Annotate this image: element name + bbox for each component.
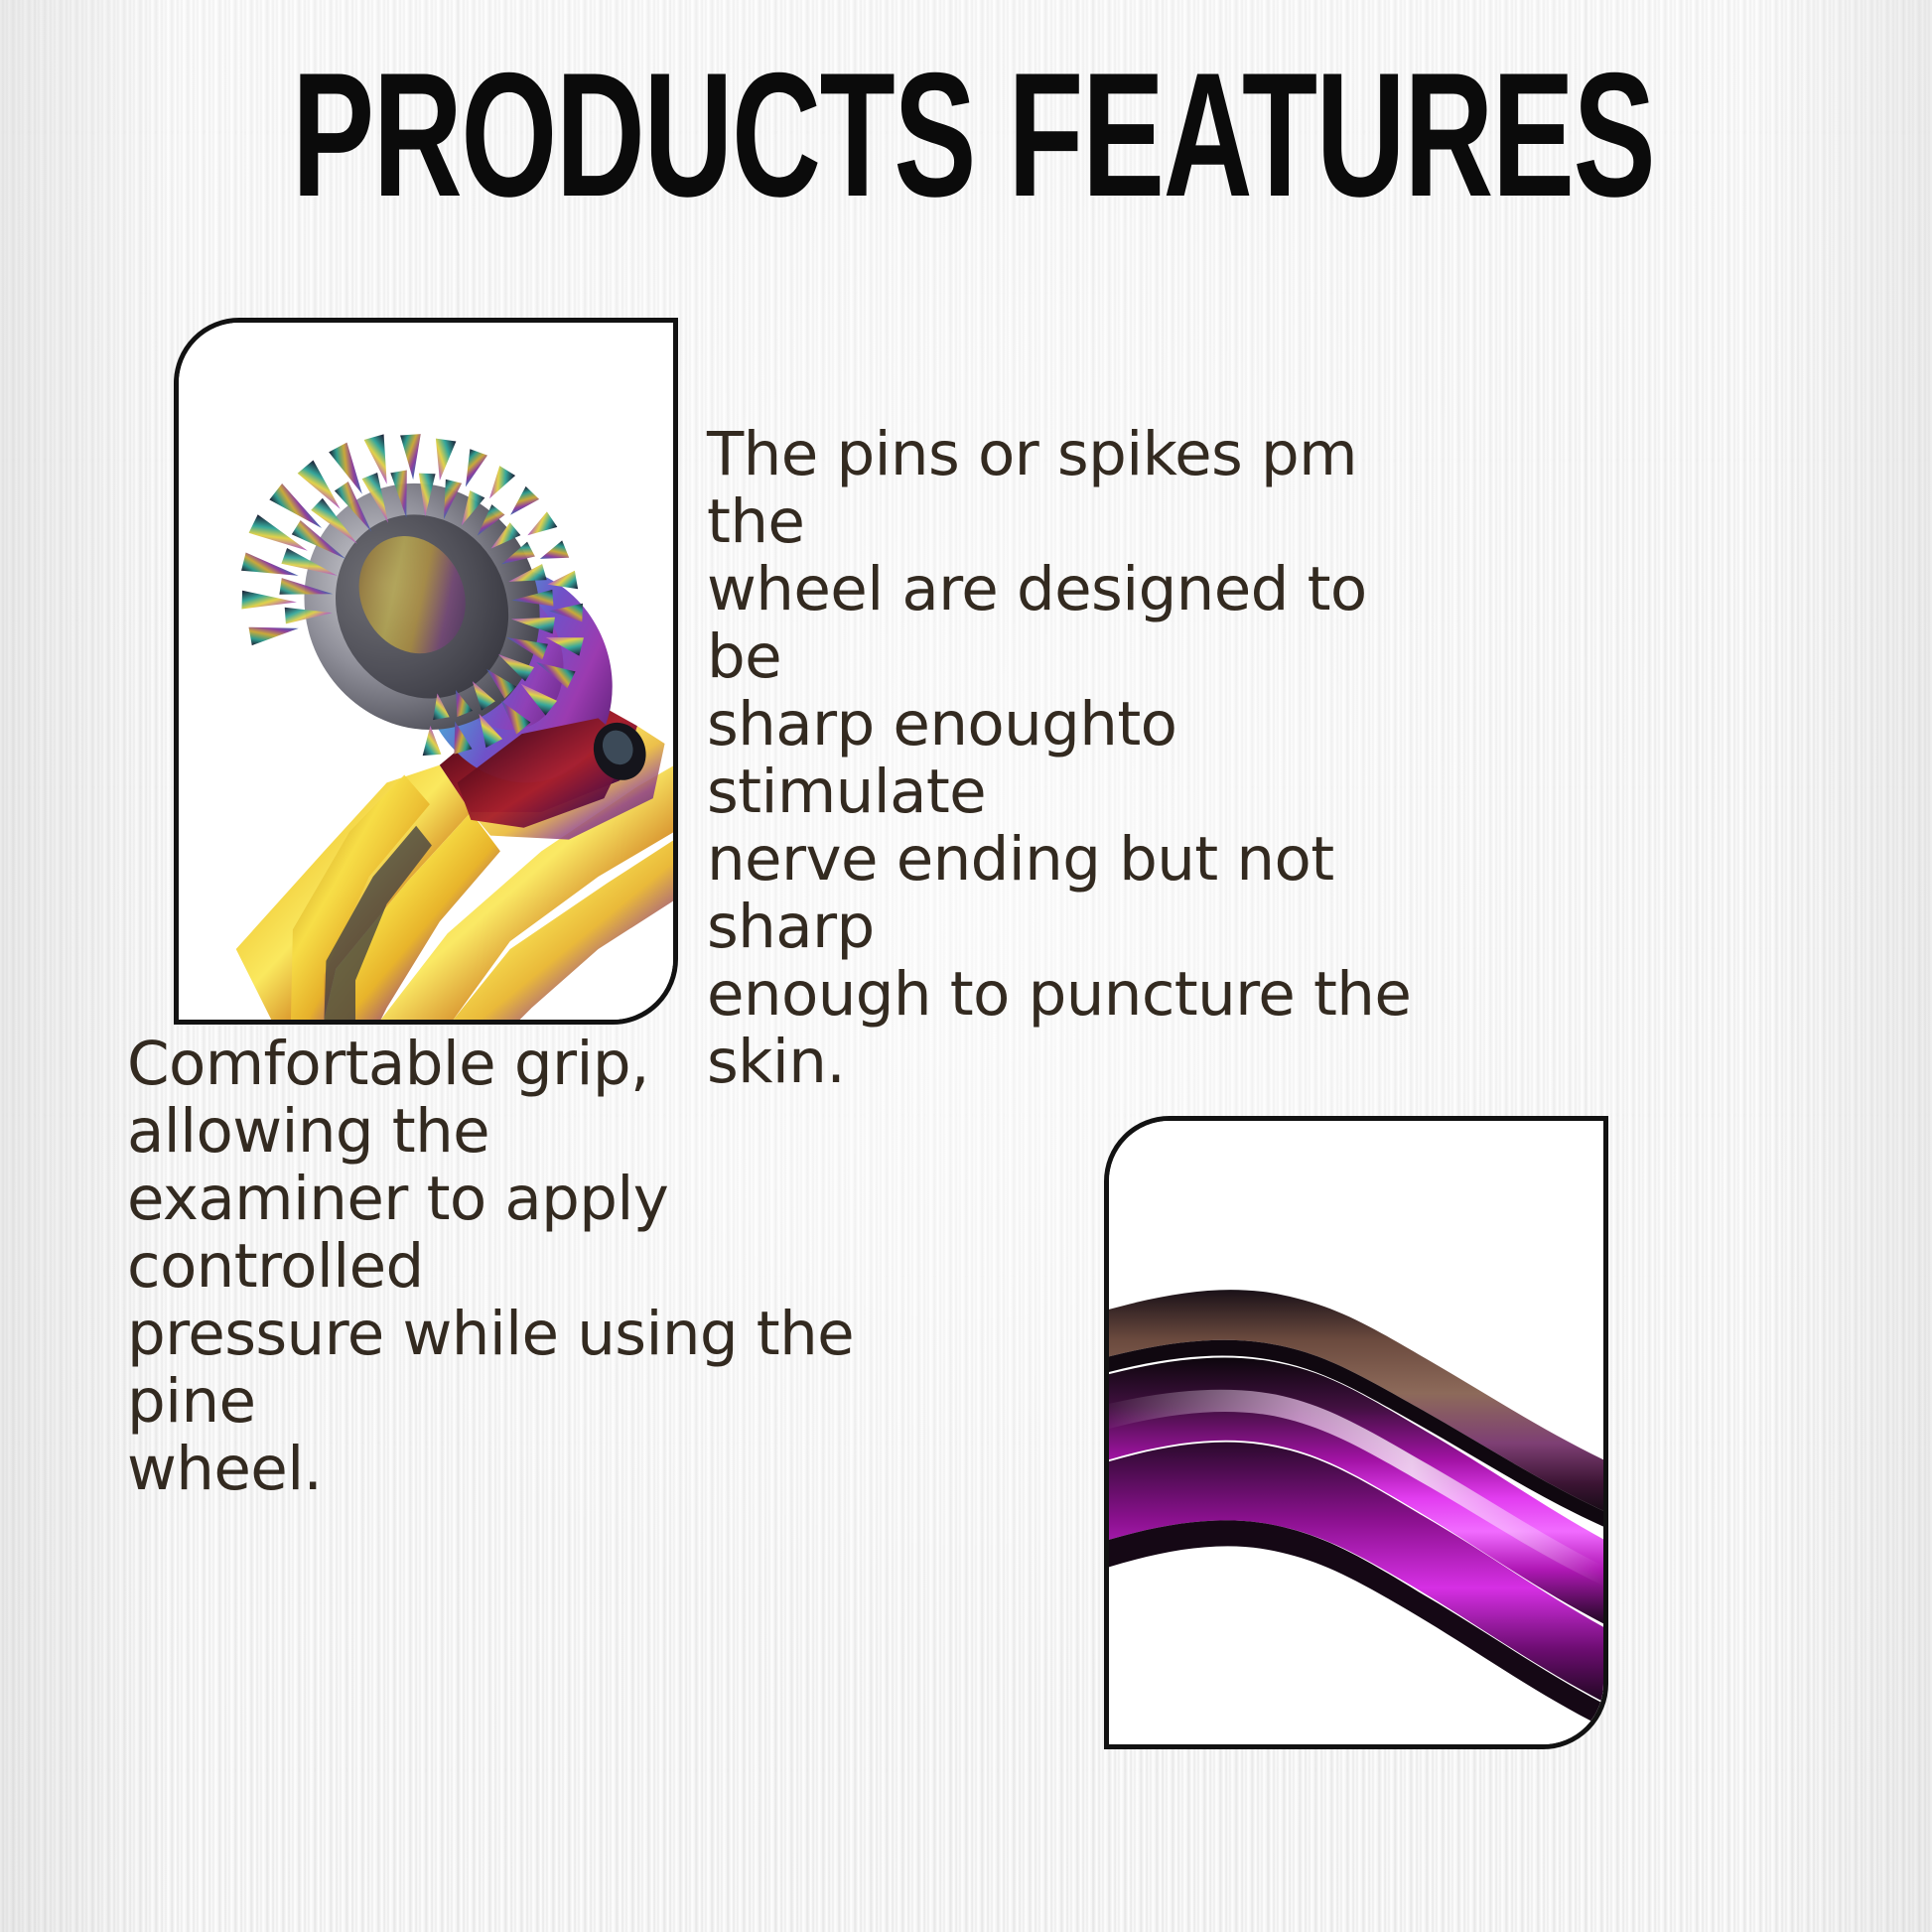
- page-title-text: PRODUCTS FEATURES: [292, 52, 1654, 217]
- feature-image-frame-spikes: [174, 318, 678, 1025]
- feature-text-spikes: The pins or spikes pm the wheel are desi…: [707, 421, 1442, 1096]
- feature-image-frame-grip: [1104, 1116, 1608, 1749]
- page-title: PRODUCTS FEATURES: [0, 52, 1932, 217]
- pinwheel-photo: [179, 323, 673, 1020]
- handle-illustration: [1109, 1121, 1603, 1744]
- product-features-poster: PRODUCTS FEATURES: [0, 0, 1932, 1932]
- handle-photo: [1109, 1121, 1603, 1744]
- pinwheel-illustration: [179, 323, 673, 1020]
- feature-text-grip: Comfortable grip, allowing the examiner …: [127, 1031, 911, 1503]
